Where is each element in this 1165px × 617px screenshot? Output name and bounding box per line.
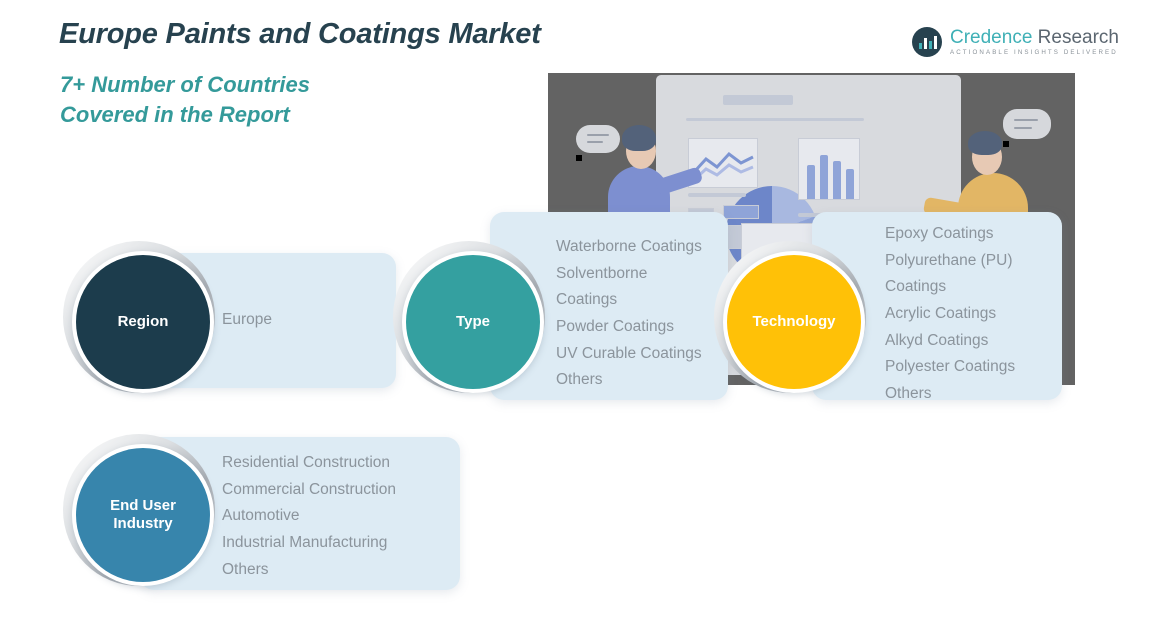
segment-type-circle[interactable]: Type	[393, 241, 551, 399]
speech-bubble-left	[576, 125, 620, 153]
page-title: Europe Paints and Coatings Market	[59, 18, 541, 51]
segment-technology-circle[interactable]: Technology	[714, 241, 872, 399]
board-title-bar	[723, 95, 793, 105]
logo-tagline: Actionable Insights Delivered	[950, 50, 1119, 56]
segment-end-user-items: Residential Construction Commercial Cons…	[222, 450, 462, 583]
brand-logo[interactable]: Credence Research Actionable Insights De…	[912, 27, 1119, 57]
board-square-2	[723, 205, 759, 219]
segment-end-user-circle[interactable]: End User Industry	[63, 434, 221, 592]
board-text-line-1	[688, 193, 746, 197]
segment-region-items: Europe	[222, 307, 387, 334]
bar-chart-circle-icon	[912, 27, 942, 57]
person-right-hair	[968, 131, 1002, 155]
logo-name-secondary: Research	[1032, 27, 1119, 48]
board-rule	[686, 118, 864, 121]
logo-name-primary: Credence	[950, 27, 1032, 48]
board-bar-chart	[798, 138, 860, 200]
segment-end-user-label: End User Industry	[76, 448, 210, 582]
page-subtitle: 7+ Number of Countries Covered in the Re…	[60, 70, 310, 130]
segment-technology-label: Technology	[727, 255, 861, 389]
segment-region-label: Region	[76, 255, 210, 389]
segment-type-label: Type	[406, 255, 540, 389]
person-left-hair	[622, 125, 656, 151]
speech-bubble-right	[1003, 109, 1051, 139]
infographic-canvas: Europe Paints and Coatings Market 7+ Num…	[0, 0, 1165, 617]
segment-region-circle[interactable]: Region	[63, 241, 221, 399]
segment-technology-items: Epoxy Coatings Polyurethane (PU) Coating…	[885, 221, 1065, 408]
